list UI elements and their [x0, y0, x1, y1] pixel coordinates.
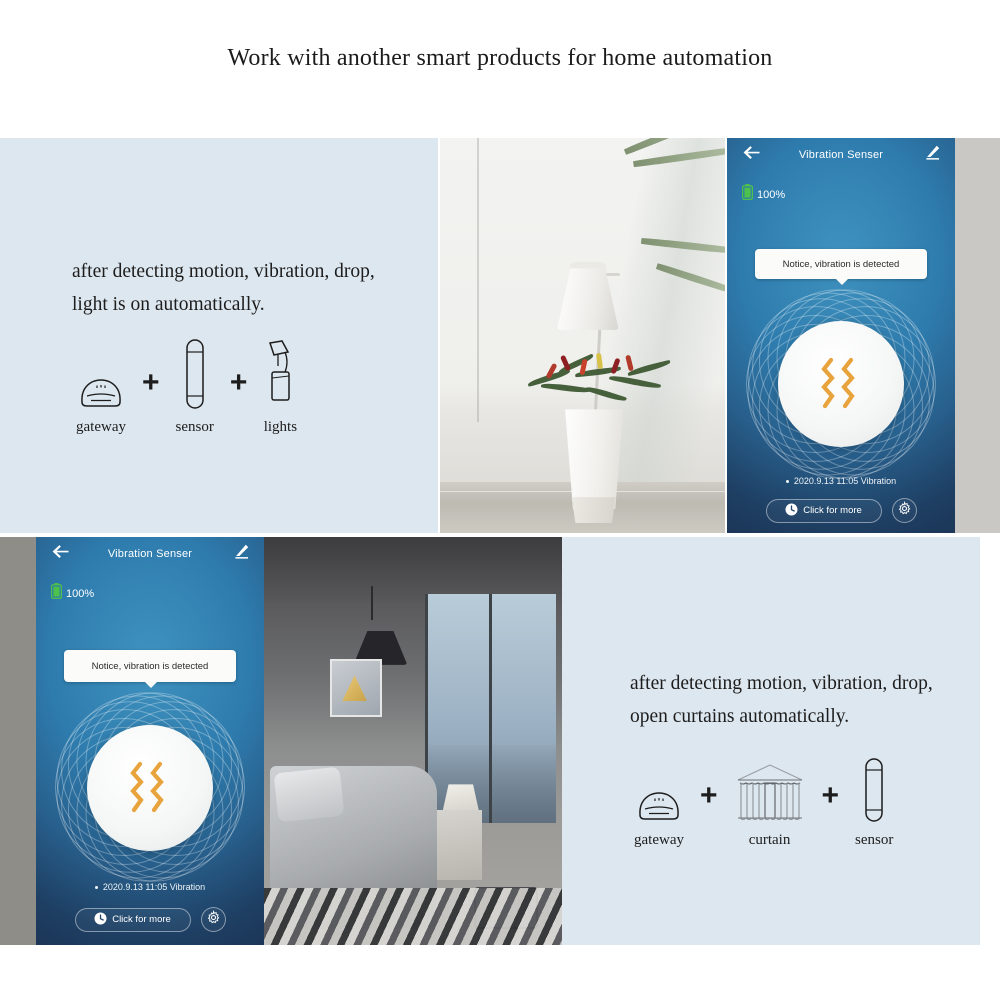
background-plant [615, 138, 725, 343]
event-name: Vibration [861, 476, 896, 486]
battery-status: 100% [742, 184, 785, 205]
vibration-waves-icon [817, 356, 865, 412]
plus-icon: + [126, 347, 176, 419]
device-label-sensor: sensor [855, 832, 893, 849]
plus-icon: + [214, 347, 264, 419]
device-sensor: sensor [855, 751, 893, 849]
photo-bedroom-curtains [264, 537, 562, 945]
click-for-more-label: Click for more [803, 505, 862, 516]
back-arrow-icon[interactable] [52, 545, 69, 564]
battery-full-icon [51, 583, 62, 604]
battery-status: 100% [51, 583, 94, 604]
left-edge-strip-bottom [0, 537, 36, 945]
clock-icon [94, 912, 107, 928]
click-for-more-button[interactable]: Click for more [766, 499, 882, 523]
lights-device-combo: gateway + sensor + [76, 338, 297, 436]
bullet-dot-icon [786, 480, 789, 483]
edit-pencil-icon[interactable] [925, 145, 940, 165]
battery-percentage: 100% [757, 189, 785, 201]
plant-pot-base [570, 497, 618, 523]
phone-title: Vibration Senser [799, 149, 883, 161]
vibration-sensor-icon [859, 751, 889, 823]
click-for-more-button[interactable]: Click for more [75, 908, 191, 932]
device-status-disc[interactable] [87, 725, 213, 851]
phone-screen-vibration-top[interactable]: Vibration Senser 100% Notice, vibration … [727, 138, 955, 533]
event-name: Vibration [170, 882, 205, 892]
pillow [274, 766, 344, 822]
device-gateway: gateway [76, 338, 126, 436]
phone-footer: Click for more [727, 498, 955, 523]
click-for-more-label: Click for more [112, 914, 171, 925]
edit-pencil-icon[interactable] [234, 544, 249, 564]
lights-text-line-2: light is on automatically. [72, 288, 375, 321]
device-curtain: curtain [734, 751, 806, 849]
notice-tooltip: Notice, vibration is detected [755, 249, 927, 279]
event-timestamp: 2020.9.13 11:05 [103, 882, 167, 892]
battery-percentage: 100% [66, 588, 94, 600]
lamp-shade [557, 268, 619, 330]
event-log-line: 2020.9.13 11:05 Vibration [36, 882, 264, 892]
device-gateway: gateway [634, 751, 684, 849]
curtain-icon [734, 751, 806, 823]
wall-art [330, 659, 382, 717]
device-label-curtain: curtain [749, 832, 791, 849]
patterned-rug [264, 888, 562, 945]
phone-footer: Click for more [36, 907, 264, 932]
table-lamp [443, 784, 479, 810]
curtain-text-line-1: after detecting motion, vibration, drop, [630, 667, 933, 700]
panel-lights-automation: after detecting motion, vibration, drop,… [0, 138, 438, 533]
device-label-lights: lights [264, 419, 297, 436]
curtain-device-combo: gateway + curtain + [634, 751, 893, 849]
gear-icon [206, 910, 221, 930]
device-label-sensor: sensor [176, 419, 214, 436]
gateway-icon [636, 751, 682, 823]
device-label-gateway: gateway [76, 419, 126, 436]
curtain-text-block: after detecting motion, vibration, drop,… [630, 667, 933, 733]
notice-tooltip: Notice, vibration is detected [64, 650, 236, 682]
settings-button[interactable] [892, 498, 917, 523]
device-lights: lights [263, 338, 297, 436]
photo-desk-lamp-plant [440, 138, 725, 533]
window-with-curtains [425, 594, 556, 822]
back-arrow-icon[interactable] [743, 146, 760, 165]
battery-full-icon [742, 184, 753, 205]
device-sensor: sensor [176, 338, 214, 436]
device-label-gateway: gateway [634, 832, 684, 849]
lamp-icon [263, 338, 297, 410]
event-log-line: 2020.9.13 11:05 Vibration [727, 476, 955, 486]
lights-text-block: after detecting motion, vibration, drop,… [72, 255, 375, 321]
wall-seam [477, 138, 479, 422]
right-edge-strip-top [955, 138, 1000, 533]
curtain-text-line-2: open curtains automatically. [630, 700, 933, 733]
poster-canvas: Work with another smart products for hom… [0, 0, 1000, 1000]
vibration-sensor-icon [180, 338, 210, 410]
lights-text-line-1: after detecting motion, vibration, drop, [72, 255, 375, 288]
event-timestamp: 2020.9.13 11:05 [794, 476, 858, 486]
nightstand [431, 810, 482, 879]
clock-icon [785, 503, 798, 519]
ceiling [264, 537, 562, 602]
phone-header: Vibration Senser [727, 138, 955, 172]
phone-header: Vibration Senser [36, 537, 264, 571]
pendant-cord [371, 586, 373, 620]
gateway-icon [78, 338, 124, 410]
panel-curtain-automation: after detecting motion, vibration, drop,… [562, 537, 980, 945]
bullet-dot-icon [95, 886, 98, 889]
phone-title: Vibration Senser [108, 548, 192, 560]
gear-icon [897, 501, 912, 521]
vibration-waves-icon [126, 760, 174, 816]
page-title: Work with another smart products for hom… [0, 45, 1000, 72]
device-status-disc[interactable] [778, 321, 904, 447]
settings-button[interactable] [201, 907, 226, 932]
plus-icon: + [806, 760, 856, 832]
phone-screen-vibration-bottom[interactable]: Vibration Senser 100% Notice, vibration … [36, 537, 264, 945]
plus-icon: + [684, 760, 734, 832]
plant-foliage [523, 349, 683, 407]
